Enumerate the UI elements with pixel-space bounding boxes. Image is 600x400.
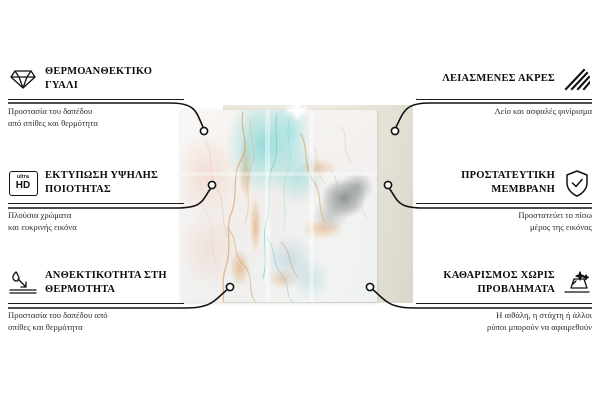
feature-divider <box>416 99 592 100</box>
feature-title: ΕΚΤΥΠΩΣΗ ΥΨΗΛΗΣ ΠΟΙΟΤΗΤΑΣ <box>45 169 184 197</box>
feature-header: ultra HD ΕΚΤΥΠΩΣΗ ΥΨΗΛΗΣ ΠΟΙΟΤΗΤΑΣ <box>8 168 184 198</box>
feature-polished-edges: ΛΕΙΑΣΜΕΝΕΣ ΑΚΡΕΣ Λείο και ασφαλές φινίρι… <box>416 64 592 117</box>
flame-deflect-icon <box>8 268 38 298</box>
feature-description: Πλούσια χρώματα και ευκρινής εικόνα <box>8 209 184 233</box>
feature-header: ΘΕΡΜΟΑΝΘΕΚΤΙΚΟ ΓΥΑΛΙ <box>8 64 184 94</box>
feature-title: ΚΑΘΑΡΙΣΜΟΣ ΧΩΡΙΣ ΠΡΟΒΛΗΜΑΤΑ <box>416 269 555 297</box>
feature-description: Προστασία του δαπέδου από σπίθες και θερ… <box>8 309 184 333</box>
ultra-hd-icon: ultra HD <box>8 168 38 198</box>
feature-title: ΘΕΡΜΟΑΝΘΕΚΤΙΚΟ ΓΥΑΛΙ <box>45 65 184 93</box>
feature-divider <box>8 203 184 204</box>
shield-check-icon <box>562 168 592 198</box>
feature-header: ΛΕΙΑΣΜΕΝΕΣ ΑΚΡΕΣ <box>416 64 592 94</box>
feature-protective-membrane: ΠΡΟΣΤΑΤΕΥΤΙΚΗ ΜΕΜΒΡΑΝΗ Προστατεύει το πί… <box>416 168 592 233</box>
diamond-icon <box>8 64 38 94</box>
feature-header: ΠΡΟΣΤΑΤΕΥΤΙΚΗ ΜΕΜΒΡΑΝΗ <box>416 168 592 198</box>
product-feature-infographic: ΘΕΡΜΟΑΝΘΕΚΤΙΚΟ ΓΥΑΛΙ Προστασία του δαπέδ… <box>0 0 600 400</box>
glass-panel-product <box>181 110 377 302</box>
feature-divider <box>8 99 184 100</box>
diagonal-lines-icon <box>562 64 592 94</box>
feature-title: ΠΡΟΣΤΑΤΕΥΤΙΚΗ ΜΕΜΒΡΑΝΗ <box>416 169 555 197</box>
ultra-hd-main-label: HD <box>16 181 30 191</box>
feature-description: Προστατεύει το πίσω μέρος της εικόνας <box>416 209 592 233</box>
feature-header: ΚΑΘΑΡΙΣΜΟΣ ΧΩΡΙΣ ΠΡΟΒΛΗΜΑΤΑ <box>416 268 592 298</box>
feature-divider <box>416 203 592 204</box>
ink-vein-lines <box>181 110 377 302</box>
feature-title: ΛΕΙΑΣΜΕΝΕΣ ΑΚΡΕΣ <box>416 72 555 86</box>
feature-description: Λείο και ασφαλές φινίρισμα <box>416 105 592 117</box>
feature-high-quality-print: ultra HD ΕΚΤΥΠΩΣΗ ΥΨΗΛΗΣ ΠΟΙΟΤΗΤΑΣ Πλούσ… <box>8 168 184 233</box>
feature-heat-resistant-glass: ΘΕΡΜΟΑΝΘΕΚΤΙΚΟ ΓΥΑΛΙ Προστασία του δαπέδ… <box>8 64 184 129</box>
sparkle-clean-icon <box>562 268 592 298</box>
abstract-ink-artwork <box>181 110 377 302</box>
feature-description: Προστασία του δαπέδου από σπίθες και θερ… <box>8 105 184 129</box>
feature-divider <box>416 303 592 304</box>
feature-heat-durability: ΑΝΘΕΚΤΙΚΟΤΗΤΑ ΣΤΗ ΘΕΡΜΟΤΗΤΑ Προστασία το… <box>8 268 184 333</box>
feature-easy-cleaning: ΚΑΘΑΡΙΣΜΟΣ ΧΩΡΙΣ ΠΡΟΒΛΗΜΑΤΑ Η αιθάλη, η … <box>416 268 592 333</box>
feature-title: ΑΝΘΕΚΤΙΚΟΤΗΤΑ ΣΤΗ ΘΕΡΜΟΤΗΤΑ <box>45 269 184 297</box>
feature-header: ΑΝΘΕΚΤΙΚΟΤΗΤΑ ΣΤΗ ΘΕΡΜΟΤΗΤΑ <box>8 268 184 298</box>
feature-description: Η αιθάλη, η στάχτη ή άλλοι ρύποι μπορούν… <box>416 309 592 333</box>
product-image-stage <box>181 107 413 303</box>
feature-divider <box>8 303 184 304</box>
